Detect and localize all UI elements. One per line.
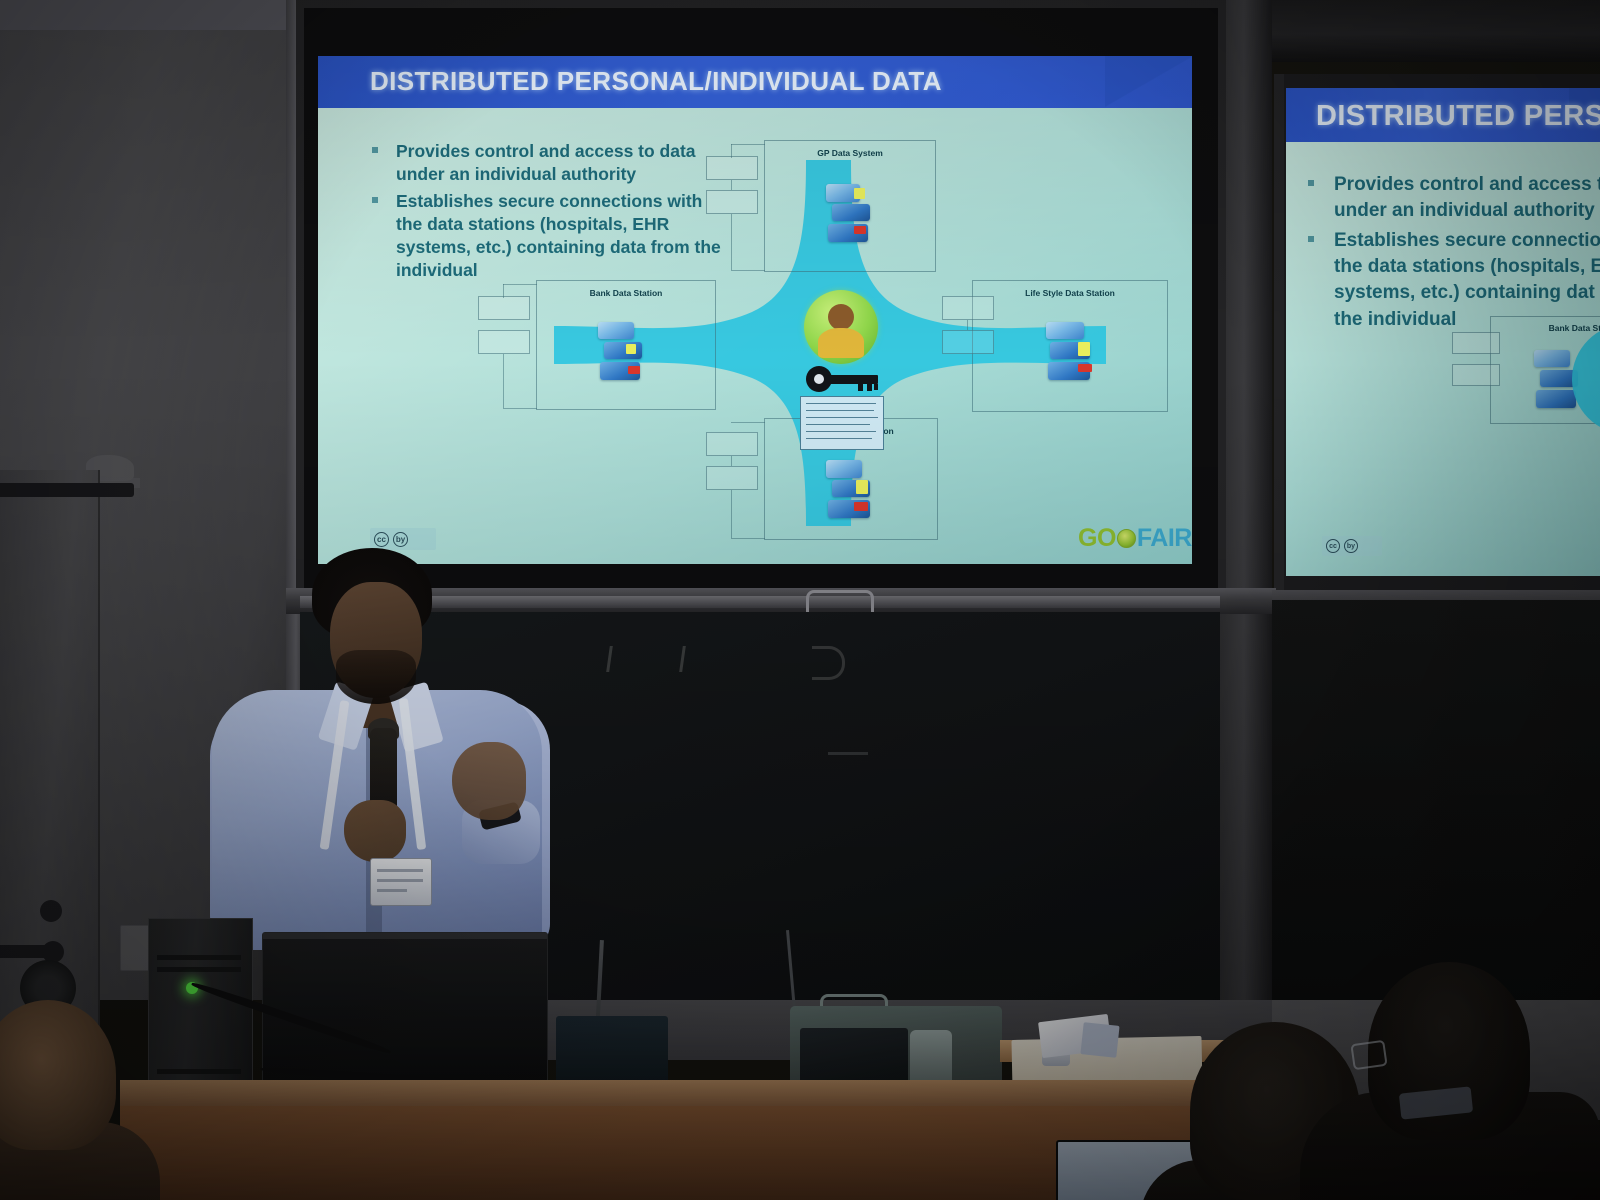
cc-by-icon: by	[1344, 539, 1358, 553]
logo-fair-text: FAIR	[1137, 524, 1192, 553]
connector-line	[731, 270, 765, 271]
person-avatar-icon	[804, 290, 878, 364]
slide-secondary: DISTRIBUTED PERSONA Provides control and…	[1286, 88, 1600, 576]
secondary-bullet-2-line1: Establishes secure connection	[1334, 230, 1600, 251]
cc-by-icon: by	[393, 532, 408, 547]
secondary-bullet-1-line2: under an individual authority	[1334, 200, 1595, 221]
lecture-hall-scene: DISTRIBUTED PERSONAL/INDIVIDUAL DATA Pro…	[0, 0, 1600, 1200]
flow-box	[478, 296, 530, 320]
right-blackboard	[1272, 600, 1600, 1020]
chalk-writing	[812, 646, 845, 680]
secondary-bullet-1: Provides control and access t under an i…	[1334, 172, 1600, 224]
chalk-writing	[828, 728, 868, 755]
station-label-gp: GP Data System	[765, 148, 935, 158]
flow-box	[942, 330, 994, 354]
cc-icon: cc	[1326, 539, 1340, 553]
light-switch[interactable]	[120, 925, 150, 971]
flow-box	[706, 466, 758, 490]
connector-line	[503, 354, 504, 408]
desk-surface	[120, 1080, 1240, 1106]
slide-secondary-bullets: Provides control and access t under an i…	[1334, 172, 1600, 336]
connector-line	[731, 422, 765, 423]
bullet-square-icon	[1308, 180, 1314, 186]
connector-line	[731, 538, 765, 539]
flow-box	[706, 190, 758, 214]
secondary-bullet-2-line2: the data stations (hospitals, E	[1334, 256, 1600, 277]
flow-box	[1452, 332, 1500, 354]
secondary-bullet-1-line1: Provides control and access t	[1334, 174, 1600, 195]
door-top-bar	[0, 483, 134, 497]
connector-line	[731, 144, 765, 145]
connector-line	[503, 284, 537, 285]
slide-main: DISTRIBUTED PERSONAL/INDIVIDUAL DATA Pro…	[318, 56, 1192, 564]
creative-commons-badge: cc by	[370, 528, 436, 550]
flow-box	[478, 330, 530, 354]
door-lock-icon[interactable]	[40, 900, 62, 922]
secondary-bullet-2-line3: systems, etc.) containing dat	[1334, 282, 1595, 303]
connector-line	[967, 320, 968, 330]
chalk-tray	[300, 596, 1220, 608]
presenter-beard	[336, 650, 416, 704]
secondary-cc-badge: cc by	[1322, 536, 1382, 556]
slide-secondary-title: DISTRIBUTED PERSONA	[1316, 100, 1600, 133]
logo-go-text: GO	[1078, 524, 1116, 553]
paper-note	[1080, 1022, 1119, 1058]
eyeglasses	[1350, 1040, 1387, 1070]
station-label-lifestyle: Life Style Data Station	[973, 288, 1167, 298]
distributed-data-diagram: GP Data System Bank Data Station	[506, 140, 1186, 540]
secondary-bullet-2-line4: the individual	[1334, 309, 1456, 330]
connector-line	[731, 180, 732, 190]
flow-box	[706, 432, 758, 456]
server-stack-gp	[824, 184, 880, 246]
ceiling-strip	[0, 0, 300, 30]
chalk-writing	[606, 646, 686, 672]
door-handle[interactable]	[0, 945, 60, 958]
cc-icon: cc	[374, 532, 389, 547]
center-individual-node	[790, 290, 894, 450]
encrypted-document-icon	[800, 396, 884, 450]
flow-box	[1452, 364, 1500, 386]
server-stack-hospital	[824, 460, 882, 524]
station-label-bank: Bank Data Station	[537, 288, 715, 298]
secondary-station-label: Bank Data Station	[1491, 323, 1600, 333]
key-icon	[806, 366, 878, 392]
flow-box	[706, 156, 758, 180]
bullet-square-icon	[1308, 236, 1314, 242]
connector-line	[731, 456, 732, 466]
connector-line	[503, 284, 504, 298]
flow-box	[942, 296, 994, 320]
gofair-logo: GO FAIR	[1078, 524, 1192, 553]
presenter-left-hand	[344, 800, 406, 862]
presenter-right-hand	[452, 742, 526, 820]
connector-line	[731, 490, 732, 538]
slide-title: DISTRIBUTED PERSONAL/INDIVIDUAL DATA	[370, 66, 942, 97]
connector-line	[731, 144, 732, 158]
server-stack-bank	[598, 322, 658, 386]
screen-pull-handle[interactable]	[806, 590, 874, 613]
bullet-square-icon	[372, 147, 378, 153]
connector-line	[731, 214, 732, 270]
connector-line	[503, 408, 537, 409]
server-stack-lifestyle	[1046, 322, 1108, 388]
bullet-square-icon	[372, 197, 378, 203]
globe-icon	[1117, 529, 1136, 548]
conference-badge	[370, 858, 432, 906]
